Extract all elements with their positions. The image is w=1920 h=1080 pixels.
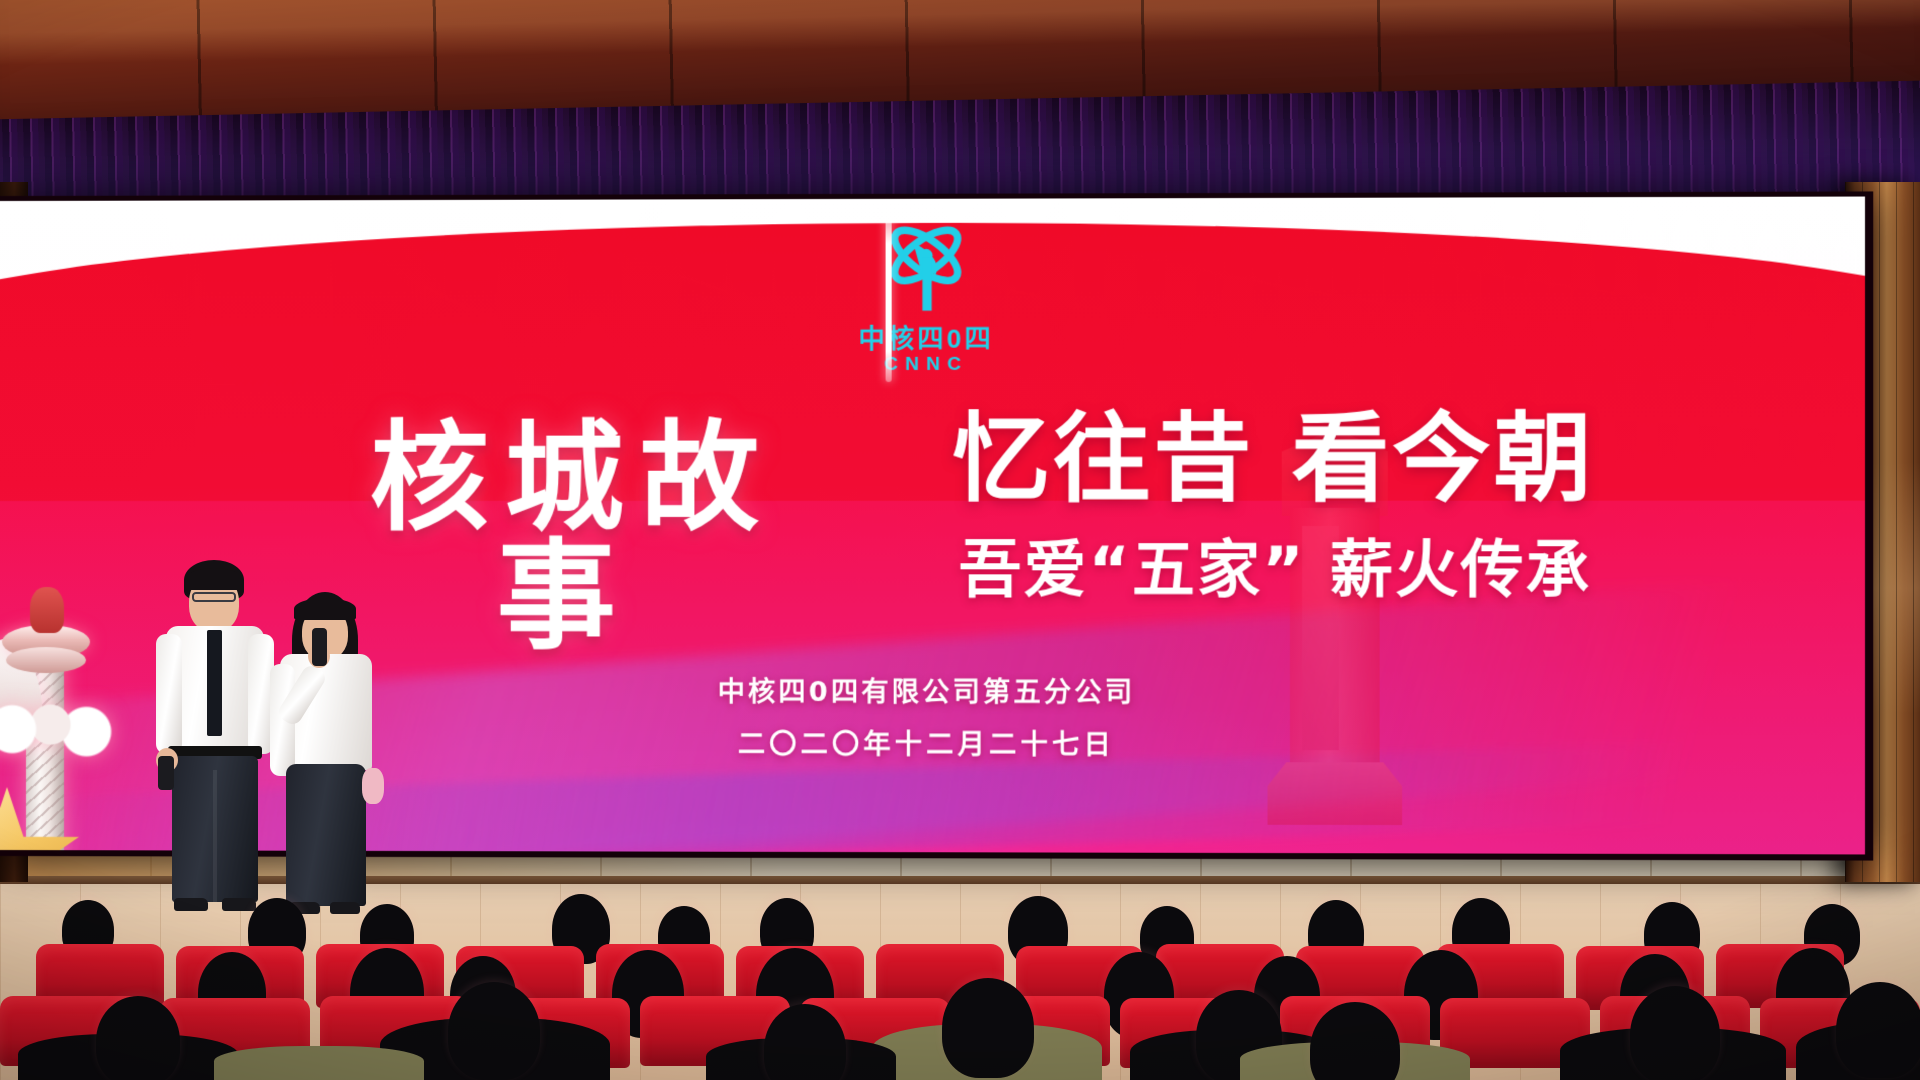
hostess-microphone-icon (312, 628, 327, 666)
host-glasses-icon (192, 592, 236, 602)
audience-head (1630, 986, 1720, 1080)
host-microphone-icon (158, 756, 174, 790)
audience-shoulders (214, 1046, 424, 1080)
host-fringe (186, 568, 242, 590)
audience-head (1836, 982, 1920, 1078)
logo-english-name: CNNC (810, 354, 1043, 376)
host-arm-left (156, 634, 182, 754)
logo-chinese-name: 中核四0四 (810, 325, 1043, 353)
audience-head (96, 996, 180, 1080)
vertical-divider (886, 213, 892, 382)
host-tie (207, 630, 222, 736)
cnnc-logo: 中核四0四 CNNC (810, 215, 1043, 377)
audience-head (448, 982, 540, 1080)
hostess-held-item (362, 768, 384, 804)
female-host (268, 592, 384, 912)
hostess-fringe (294, 598, 356, 620)
banner-title-right: 忆往昔 看今朝 (952, 410, 1665, 509)
auditorium-stage-scene: 中核四0四 CNNC 核城故事 (0, 0, 1920, 1080)
banner-subtitle-right: 吾爱“五家” 薪火传承 (959, 539, 1673, 602)
audience-head (942, 978, 1034, 1078)
audience-seating (0, 878, 1920, 1080)
male-host (150, 560, 280, 910)
